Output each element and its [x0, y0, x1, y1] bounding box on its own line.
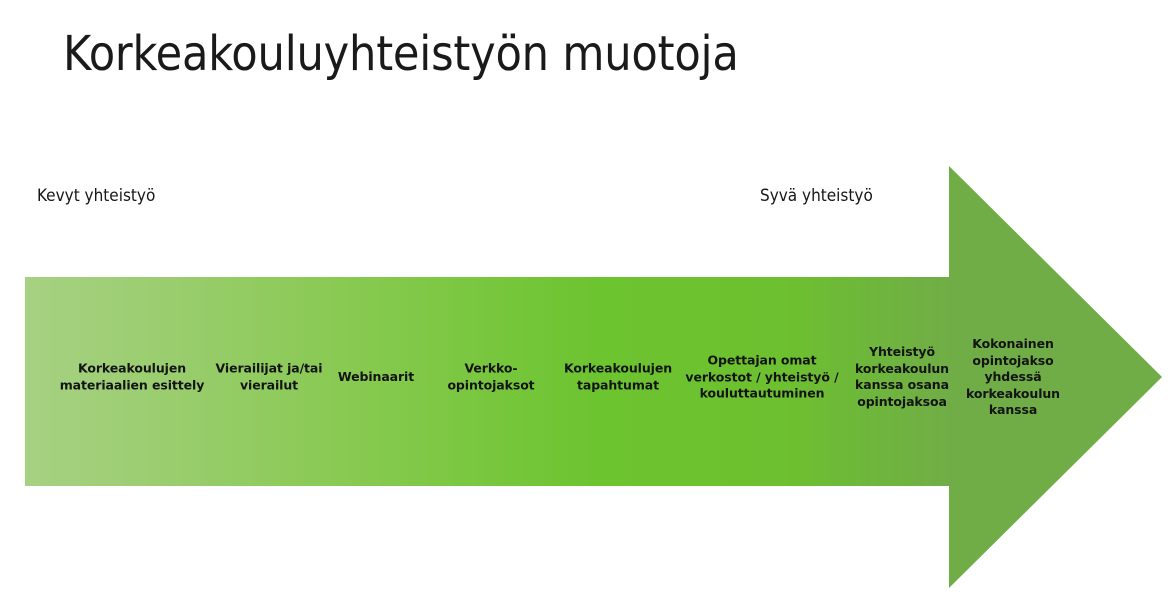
scale-label-deep-cooperation: Syvä yhteistyö [760, 186, 873, 206]
stage-item-7[interactable]: Yhteistyö korkeakoulun kanssa osana opin… [841, 344, 963, 410]
stage-label: Opettajan omat verkostot / yhteistyö / k… [685, 352, 838, 400]
stage-label: Korkeakoulujen tapahtumat [564, 361, 672, 393]
stage-item-8[interactable]: Kokonainen opintojakso yhdessä korkeakou… [952, 336, 1074, 419]
stage-label: Vierailijat ja/tai vierailut [216, 361, 323, 393]
stage-item-1[interactable]: Korkeakoulujen materiaalien esittely [52, 361, 212, 394]
stage-label: Verkko-opintojaksot [447, 361, 534, 393]
stage-label: Yhteistyö korkeakoulun kanssa osana opin… [855, 344, 949, 409]
stage-label: Korkeakoulujen materiaalien esittely [60, 361, 205, 393]
stage-item-6[interactable]: Opettajan omat verkostot / yhteistyö / k… [679, 352, 845, 402]
page-title: Korkeakouluyhteistyön muotoja [63, 22, 963, 86]
slide-canvas: Korkeakouluyhteistyön muotoja Kevyt yhte… [0, 0, 1170, 604]
stage-label-group: Korkeakoulujen materiaalien esittely Vie… [25, 277, 1162, 486]
scale-label-light-cooperation: Kevyt yhteistyö [37, 186, 155, 206]
stage-item-2[interactable]: Vierailijat ja/tai vierailut [208, 361, 330, 394]
stage-label: Kokonainen opintojakso yhdessä korkeakou… [966, 336, 1060, 417]
stage-item-4[interactable]: Verkko-opintojaksot [423, 361, 559, 394]
stage-item-3[interactable]: Webinaarit [315, 369, 437, 386]
stage-item-5[interactable]: Korkeakoulujen tapahtumat [545, 361, 691, 394]
stage-label: Webinaarit [338, 369, 414, 384]
